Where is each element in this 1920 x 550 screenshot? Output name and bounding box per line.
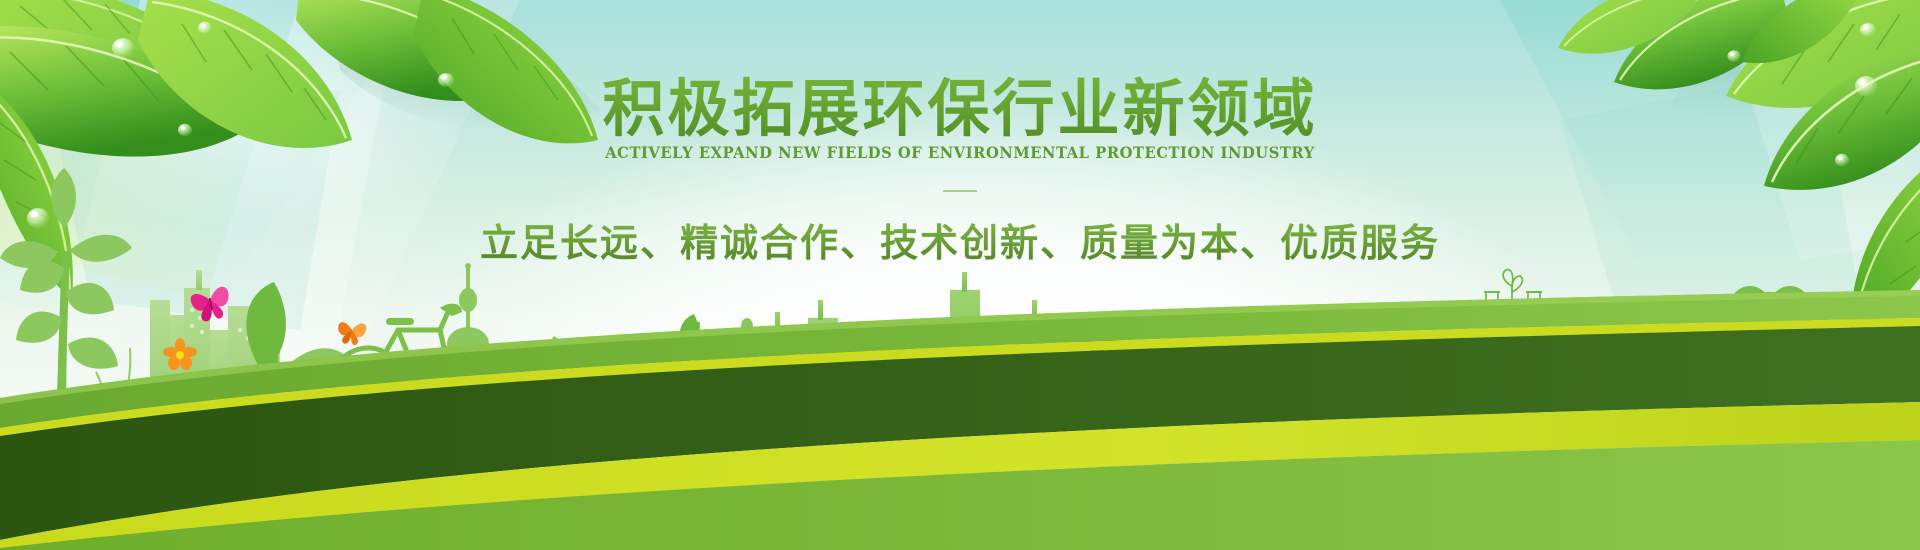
small-flower-right: [1698, 385, 1715, 401]
butterfly-pink: [189, 286, 233, 324]
sprig-cluster: [550, 344, 600, 430]
banner-subtitle: ACTIVELY EXPAND NEW FIELDS OF ENVIRONMEN…: [77, 143, 1843, 162]
ladybug: [815, 399, 831, 410]
sunflower: [1626, 351, 1665, 430]
pink-flower: [701, 395, 723, 430]
oriental-pearl-tower: [447, 263, 489, 430]
eco-banner: 积极拓展环保行业新领域 ACTIVELY EXPAND NEW FIELDS O…: [0, 0, 1920, 550]
hummingbird: [1071, 323, 1124, 376]
sketched-house: [1388, 270, 1626, 430]
sprig-buds: [543, 335, 605, 385]
left-city-block: [150, 270, 280, 430]
right-tree: [1706, 286, 1832, 430]
bicycle: [332, 312, 488, 420]
mid-sprout: [679, 314, 738, 430]
butterfly-orange: [336, 320, 367, 346]
left-plant: [0, 168, 132, 430]
orange-flower-left: [163, 338, 197, 370]
left-sprout: [246, 282, 352, 430]
center-city-right: [720, 272, 1090, 430]
right-grass: [1620, 358, 1726, 430]
title-divider: [943, 190, 977, 192]
banner-tagline: 立足长远、精诚合作、技术创新、质量为本、优质服务: [0, 212, 1920, 267]
house-base: [1388, 414, 1628, 430]
right-city-fragment: [1852, 368, 1908, 430]
bicycle-details: [386, 304, 462, 386]
banner-title: 积极拓展环保行业新领域: [0, 58, 1920, 148]
center-city-left: [486, 352, 548, 430]
small-tower: [738, 318, 756, 430]
